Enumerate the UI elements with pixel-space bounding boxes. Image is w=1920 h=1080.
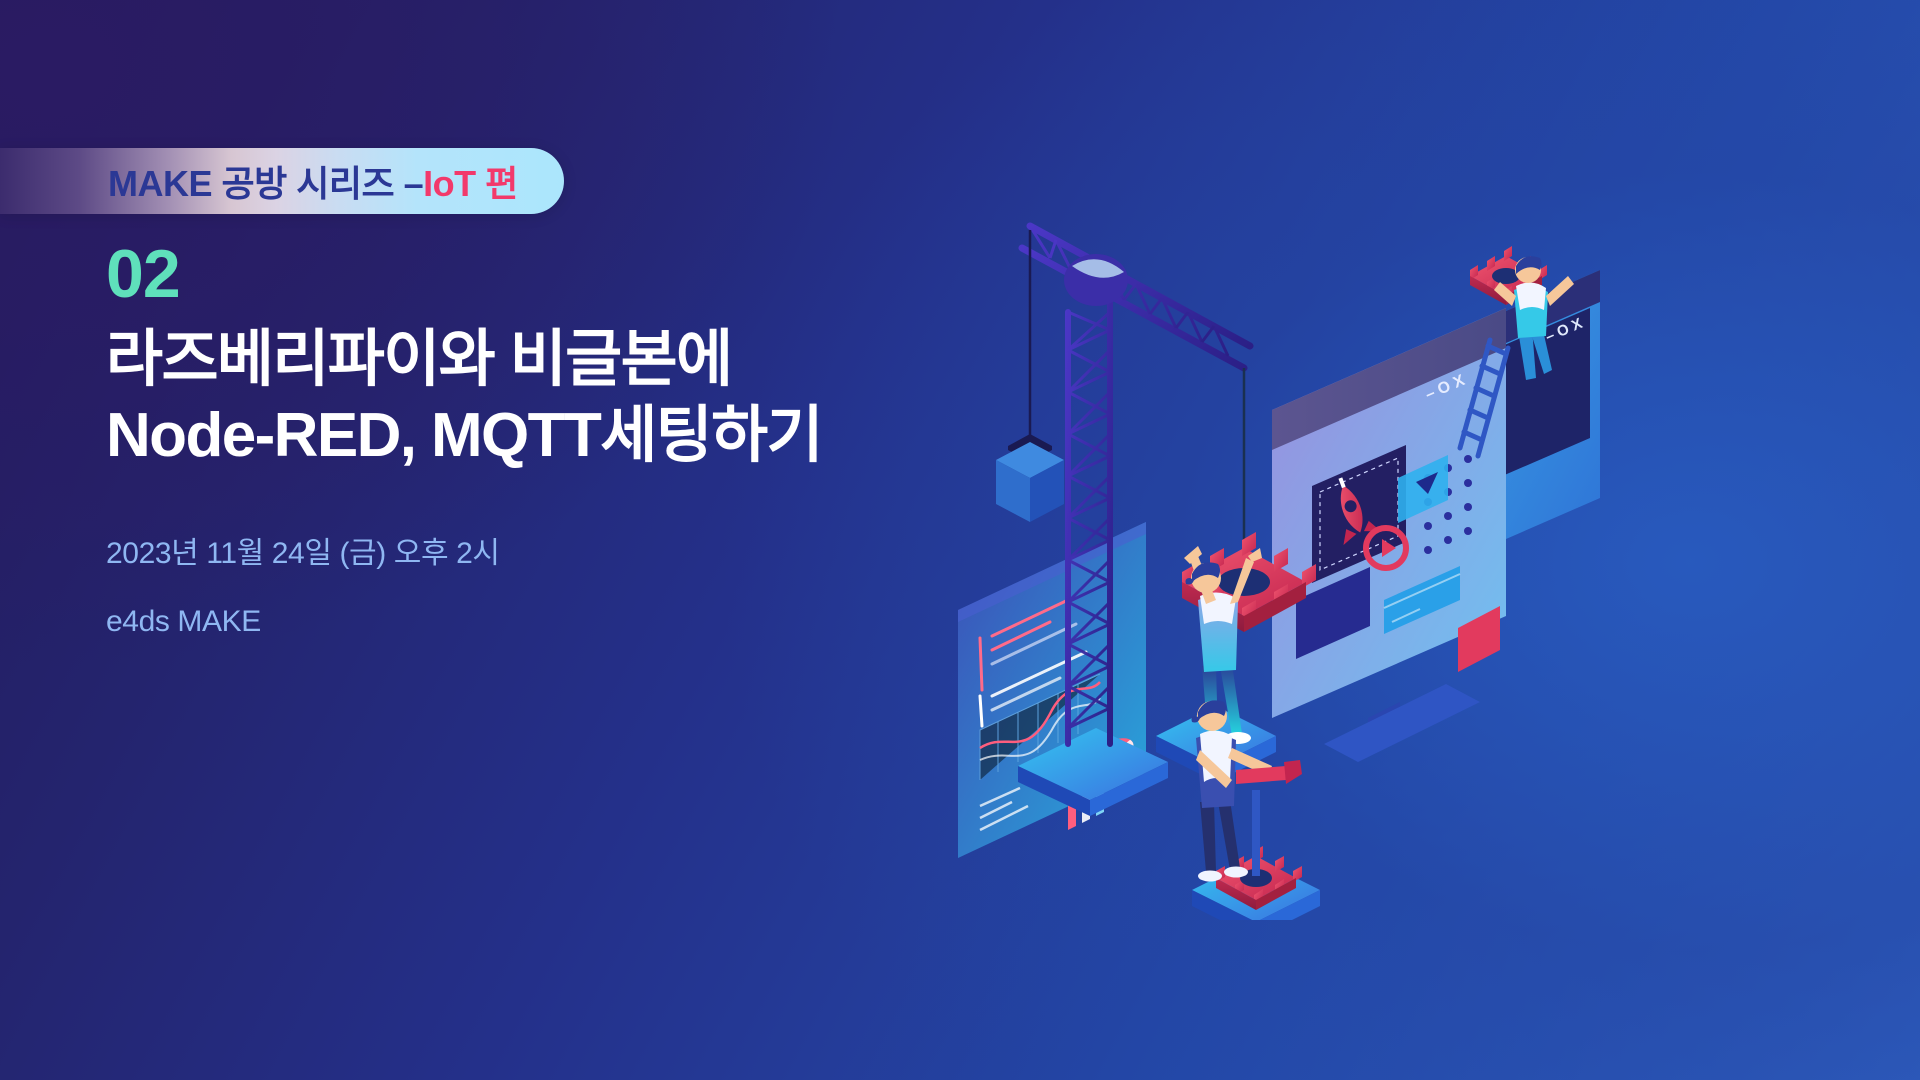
desktop-monitor-window: – O X – O X [1272,270,1600,762]
event-datetime: 2023년 11월 24일 (금) 오후 2시 [106,539,822,569]
isometric-illustration: – O X – O X [900,130,1600,920]
series-badge: MAKE 공방 시리즈 – IoT 편 [0,148,564,214]
hanging-cube-load [996,434,1064,522]
event-organizer: e4ds MAKE [106,607,822,637]
episode-number: 02 [106,240,822,308]
series-badge-label: MAKE 공방 시리즈 – [108,155,423,207]
hero-copy: 02 라즈베리파이와 비글본에 Node-RED, MQTT세팅하기 2023년… [106,240,822,637]
poster-canvas: MAKE 공방 시리즈 – IoT 편 02 라즈베리파이와 비글본에 Node… [0,0,1920,1080]
hero-title-line-2: Node-RED, MQTT세팅하기 [106,398,822,474]
analytics-tablet [958,522,1146,858]
hero-title-line-1: 라즈베리파이와 비글본에 [106,322,822,398]
series-badge-accent: IoT 편 [423,155,518,207]
event-meta: 2023년 11월 24일 (금) 오후 2시 e4ds MAKE [106,539,822,637]
